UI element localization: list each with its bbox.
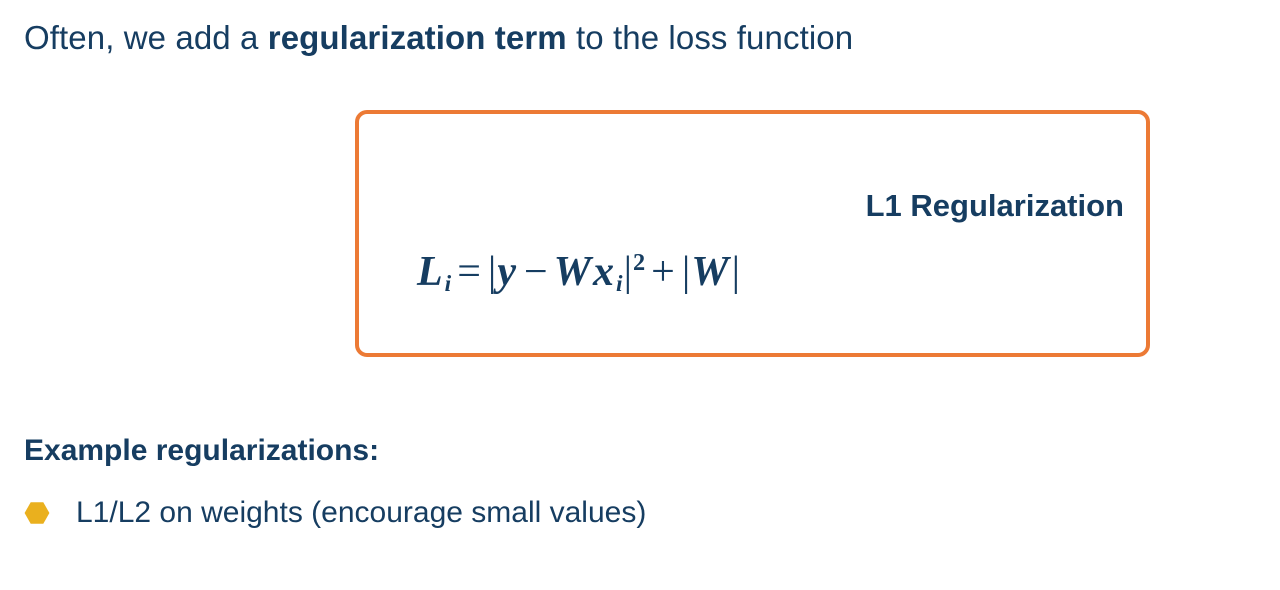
formula-plus-sign: + (645, 249, 681, 295)
formula-W-regularizer-variable: W (691, 249, 730, 295)
headline-lead: Often, we add a (24, 19, 268, 56)
list-item: L1/L2 on weights (encourage small values… (24, 494, 646, 532)
page-title: Often, we add a regularization term to t… (24, 16, 1254, 60)
loss-formula: Li=|y−Wxi|2+|W| (417, 238, 741, 309)
formula-minus-sign: − (518, 249, 554, 295)
formula-x-subscript: i (616, 271, 623, 297)
examples-section-title: Example regularizations: (24, 432, 379, 470)
formula-abs-close-2: | (731, 249, 741, 295)
formula-W-variable: W (554, 249, 593, 295)
formula-abs-close-1: | (623, 249, 633, 295)
headline-tail: to the loss function (567, 19, 853, 56)
hexagon-bullet-icon (24, 500, 50, 526)
formula-x-variable: x (593, 249, 616, 295)
formula-exponent: 2 (633, 249, 645, 276)
formula-equals-sign: = (451, 249, 487, 295)
formula-abs-open-2: | (681, 249, 691, 295)
headline-emphasis: regularization term (268, 19, 567, 56)
formula-lhs-variable: L (417, 249, 445, 295)
slide-canvas: Often, we add a regularization term to t… (0, 0, 1280, 590)
formula-y-variable: y (497, 249, 518, 295)
formula-abs-open-1: | (487, 249, 497, 295)
formula-box-heading: L1 Regularization (866, 187, 1124, 225)
list-item-label: L1/L2 on weights (encourage small values… (76, 494, 646, 532)
formula-callout-box: L1 Regularization Li=|y−Wxi|2+|W| (355, 110, 1150, 357)
